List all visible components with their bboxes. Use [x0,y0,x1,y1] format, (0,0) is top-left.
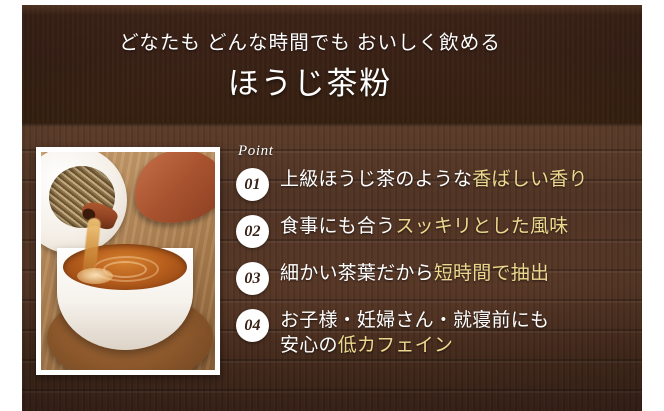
point-text: 細かい茶葉だから短時間で抽出 [280,261,549,286]
point-text: 上級ほうじ茶のような香ばしい香り [280,167,588,192]
point-text-plain: 食事にも合う [280,216,395,237]
point-text-plain: 上級ほうじ茶のような [280,169,472,190]
point-text-line2-plain: 安心の [280,335,338,356]
point-text: お子様・妊婦さん・就寝前にも 安心の低カフェイン [280,308,549,359]
point-text-highlight: 香ばしい香り [472,169,587,190]
point-number-badge: 03 [236,262,269,295]
point-text: 食事にも合うスッキリとした風味 [280,214,568,239]
photo-pour-splash [77,268,113,284]
point-number-badge: 02 [236,215,269,248]
point-section-label: Point [238,143,608,160]
point-text-highlight: スッキリとした風味 [395,216,568,237]
point-row-02: 02 食事にも合うスッキリとした風味 [236,214,608,248]
headline-title: ほうじ茶粉 [0,67,620,101]
point-row-04: 04 お子様・妊婦さん・就寝前にも 安心の低カフェイン [236,308,608,359]
point-row-01: 01 上級ほうじ茶のような香ばしい香り [236,167,608,201]
point-text-plain: お子様・妊婦さん・就寝前にも [280,310,549,331]
point-row-03: 03 細かい茶葉だから短時間で抽出 [236,261,608,295]
point-text-line2: 安心の低カフェイン [280,333,549,358]
promo-banner: どなたも どんな時間でも おいしく飲める ほうじ茶粉 Point 01 上級ほう… [0,0,664,411]
point-text-line2-highlight: 低カフェイン [338,335,453,356]
point-number-badge: 04 [236,309,269,342]
point-text-plain: 細かい茶葉だから [280,263,434,284]
points-list: Point 01 上級ほうじ茶のような香ばしい香り 02 食事にも合うスッキリと… [236,143,608,359]
point-text-highlight: 短時間で抽出 [434,263,549,284]
product-photo [41,152,215,370]
product-photo-frame [36,147,220,375]
point-number-badge: 01 [236,168,269,201]
headline-block: どなたも どんな時間でも おいしく飲める ほうじ茶粉 [0,33,620,102]
headline-subtitle: どなたも どんな時間でも おいしく飲める [0,33,620,54]
